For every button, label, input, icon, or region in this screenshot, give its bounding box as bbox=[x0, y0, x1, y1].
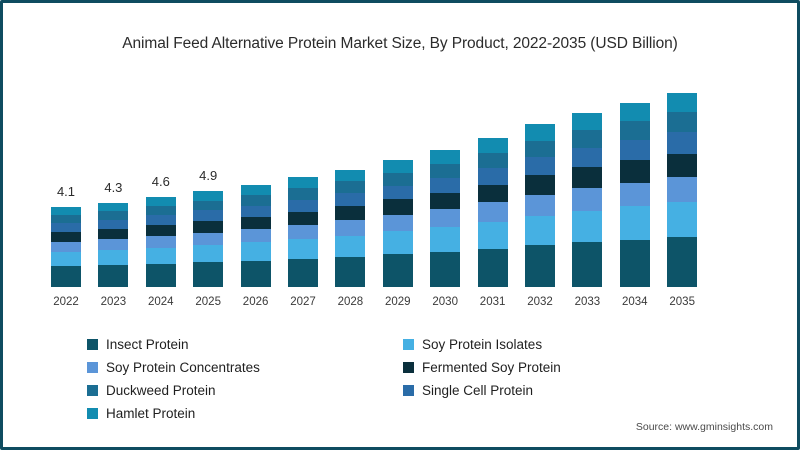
bar-segment bbox=[146, 236, 176, 248]
legend-item-duckweed-protein[interactable]: Duckweed Protein bbox=[87, 379, 403, 402]
legend-item-label: Duckweed Protein bbox=[106, 383, 216, 398]
bar-2023[interactable] bbox=[98, 203, 128, 287]
bar-segment bbox=[383, 186, 413, 200]
bar-segment bbox=[667, 202, 697, 237]
bar-segment bbox=[146, 215, 176, 225]
bar-segment bbox=[51, 207, 81, 215]
bar-segment bbox=[620, 103, 650, 122]
bar-segment bbox=[383, 231, 413, 254]
bar-segment bbox=[98, 239, 128, 250]
bar-segment bbox=[572, 211, 602, 242]
bar-segment bbox=[383, 199, 413, 214]
legend-swatch-icon bbox=[87, 339, 98, 350]
legend-item-soy-protein-concentrates[interactable]: Soy Protein Concentrates bbox=[87, 356, 403, 379]
bar-segment bbox=[335, 193, 365, 206]
bar-segment bbox=[430, 209, 460, 227]
bar-2035[interactable] bbox=[667, 93, 697, 287]
bar-segment bbox=[572, 242, 602, 287]
bar-segment bbox=[525, 157, 555, 175]
bar-segment bbox=[667, 132, 697, 153]
bar-segment bbox=[193, 191, 223, 201]
bar-segment bbox=[525, 141, 555, 158]
bar-segment bbox=[620, 206, 650, 239]
bar-segment bbox=[241, 242, 271, 260]
chart-frame: Animal Feed Alternative Protein Market S… bbox=[0, 0, 800, 450]
bar-segment bbox=[288, 200, 318, 212]
bar-segment bbox=[667, 237, 697, 287]
bar-segment bbox=[193, 262, 223, 287]
bar-segment bbox=[241, 195, 271, 205]
bar-segment bbox=[51, 242, 81, 252]
bar-2032[interactable] bbox=[525, 124, 555, 287]
legend-item-label: Soy Protein Concentrates bbox=[106, 360, 260, 375]
bar-segment bbox=[193, 210, 223, 221]
bar-segment bbox=[383, 254, 413, 287]
bar-segment bbox=[98, 250, 128, 265]
legend-item-label: Soy Protein Isolates bbox=[422, 337, 542, 352]
bar-segment bbox=[572, 130, 602, 148]
bar-segment bbox=[335, 236, 365, 257]
legend-item-label: Single Cell Protein bbox=[422, 383, 533, 398]
bar-segment bbox=[193, 245, 223, 262]
bar-segment bbox=[335, 257, 365, 287]
bar-2030[interactable] bbox=[430, 150, 460, 287]
bar-segment bbox=[335, 170, 365, 182]
bar-segment bbox=[98, 265, 128, 287]
bar-segment bbox=[288, 212, 318, 225]
bar-segment bbox=[383, 215, 413, 232]
bar-segment bbox=[288, 259, 318, 287]
bar-segment bbox=[430, 164, 460, 178]
bar-segment bbox=[430, 252, 460, 287]
bar-segment bbox=[288, 239, 318, 259]
bar-segment bbox=[430, 178, 460, 193]
bar-segment bbox=[620, 240, 650, 287]
bar-segment bbox=[478, 168, 508, 184]
bar-segment bbox=[335, 206, 365, 220]
bar-2024[interactable] bbox=[146, 197, 176, 287]
bar-segment bbox=[620, 121, 650, 140]
bar-segment bbox=[51, 232, 81, 242]
bar-segment bbox=[667, 112, 697, 132]
bar-segment bbox=[620, 140, 650, 160]
bar-segment bbox=[478, 202, 508, 221]
bar-segment bbox=[241, 229, 271, 242]
bar-2034[interactable] bbox=[620, 103, 650, 287]
legend-swatch-icon bbox=[403, 362, 414, 373]
bar-segment bbox=[525, 195, 555, 216]
bar-segment bbox=[620, 160, 650, 182]
bar-2029[interactable] bbox=[383, 160, 413, 287]
bar-segment bbox=[98, 220, 128, 229]
bar-segment bbox=[667, 93, 697, 112]
bar-segment bbox=[572, 167, 602, 188]
legend-item-insect-protein[interactable]: Insect Protein bbox=[87, 333, 403, 356]
bar-segment bbox=[98, 203, 128, 211]
bar-segment bbox=[146, 264, 176, 287]
bar-segment bbox=[288, 225, 318, 239]
legend-item-hamlet-protein[interactable]: Hamlet Protein bbox=[87, 402, 403, 425]
bar-segment bbox=[98, 211, 128, 220]
bar-segment bbox=[525, 216, 555, 245]
bar-segment bbox=[288, 177, 318, 188]
bar-segment bbox=[146, 197, 176, 206]
bar-2031[interactable] bbox=[478, 138, 508, 287]
bar-segment bbox=[288, 188, 318, 199]
bar-2033[interactable] bbox=[572, 113, 602, 287]
bar-segment bbox=[241, 185, 271, 195]
bar-2027[interactable] bbox=[288, 177, 318, 287]
bar-segment bbox=[525, 124, 555, 140]
bar-segment bbox=[241, 206, 271, 217]
bar-segment bbox=[193, 221, 223, 233]
bar-segment bbox=[478, 222, 508, 249]
bar-segment bbox=[478, 138, 508, 153]
bar-2026[interactable] bbox=[241, 185, 271, 287]
bar-segment bbox=[572, 113, 602, 130]
bar-segment bbox=[478, 185, 508, 203]
bar-segment bbox=[193, 233, 223, 246]
bar-2025[interactable] bbox=[193, 191, 223, 287]
bar-segment bbox=[667, 177, 697, 202]
bar-segment bbox=[383, 173, 413, 186]
bar-segment bbox=[525, 175, 555, 195]
bar-segment bbox=[478, 153, 508, 168]
source-attribution: Source: www.gminsights.com bbox=[636, 421, 773, 433]
legend-item-label: Fermented Soy Protein bbox=[422, 360, 561, 375]
bar-segment bbox=[146, 225, 176, 236]
bar-segment bbox=[335, 220, 365, 235]
legend-item-label: Hamlet Protein bbox=[106, 406, 195, 421]
bar-segment bbox=[667, 154, 697, 177]
bar-segment bbox=[430, 193, 460, 209]
legend-item-single-cell-protein[interactable]: Single Cell Protein bbox=[403, 379, 719, 402]
bar-segment bbox=[525, 245, 555, 287]
bar-segment bbox=[241, 217, 271, 229]
bar-segment bbox=[383, 160, 413, 173]
legend-item-soy-protein-isolates[interactable]: Soy Protein Isolates bbox=[403, 333, 719, 356]
bar-segment bbox=[146, 248, 176, 264]
bar-segment bbox=[430, 150, 460, 164]
bar-segment bbox=[572, 148, 602, 167]
x-axis-tick-2035: 2035 bbox=[652, 296, 712, 308]
bar-2022[interactable] bbox=[51, 207, 81, 287]
bar-segment bbox=[51, 223, 81, 232]
legend-item-label: Insect Protein bbox=[106, 337, 189, 352]
legend-swatch-icon bbox=[403, 339, 414, 350]
bar-segment bbox=[146, 206, 176, 215]
bar-value-label: 4.9 bbox=[178, 168, 238, 183]
bar-segment bbox=[193, 201, 223, 211]
bar-segment bbox=[51, 266, 81, 287]
chart-legend: Insect ProteinSoy Protein ConcentratesDu… bbox=[87, 333, 727, 425]
legend-swatch-icon bbox=[87, 408, 98, 419]
legend-item-fermented-soy-protein[interactable]: Fermented Soy Protein bbox=[403, 356, 719, 379]
legend-swatch-icon bbox=[87, 385, 98, 396]
bar-segment bbox=[572, 188, 602, 211]
legend-swatch-icon bbox=[87, 362, 98, 373]
bar-2028[interactable] bbox=[335, 169, 365, 287]
bar-segment bbox=[620, 183, 650, 207]
bar-segment bbox=[430, 227, 460, 252]
bar-segment bbox=[241, 261, 271, 287]
bar-segment bbox=[98, 229, 128, 239]
bar-segment bbox=[478, 249, 508, 287]
bar-segment bbox=[51, 252, 81, 266]
bar-segment bbox=[335, 181, 365, 193]
legend-swatch-icon bbox=[403, 385, 414, 396]
bar-segment bbox=[51, 215, 81, 223]
